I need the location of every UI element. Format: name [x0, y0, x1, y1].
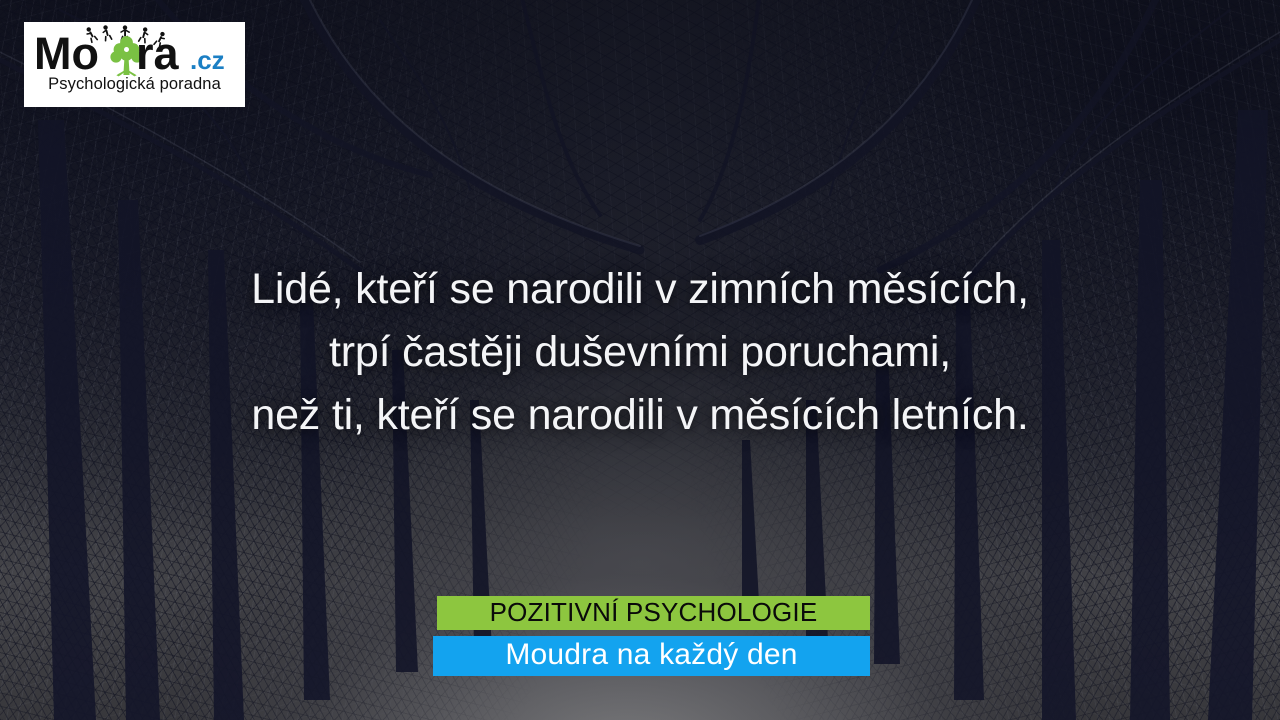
logo-word-part-2: ra — [136, 28, 180, 79]
category-banner: POZITIVNÍ PSYCHOLOGIE — [437, 596, 870, 630]
quote-line-2: trpí častěji duševními poruchami, — [40, 321, 1240, 384]
site-logo[interactable]: Mo ra .cz Psychologická poradna — [24, 22, 245, 107]
quote-line-3: než ti, kteří se narodili v měsících let… — [40, 384, 1240, 447]
tagline-banner: Moudra na každý den — [433, 636, 870, 676]
tagline-banner-label: Moudra na každý den — [505, 638, 797, 672]
category-banner-label: POZITIVNÍ PSYCHOLOGIE — [490, 597, 818, 628]
logo-wordmark: Mo ra .cz — [32, 25, 237, 79]
quote-text: Lidé, kteří se narodili v zimních měsící… — [0, 258, 1280, 448]
logo-domain-suffix: .cz — [190, 45, 225, 75]
logo-word-part-1: Mo — [34, 28, 99, 79]
quote-card: Mo ra .cz Psychologická poradna Lidé, kt… — [0, 0, 1280, 720]
bottom-banners: POZITIVNÍ PSYCHOLOGIE Moudra na každý de… — [433, 596, 870, 676]
quote-line-1: Lidé, kteří se narodili v zimních měsící… — [40, 258, 1240, 321]
